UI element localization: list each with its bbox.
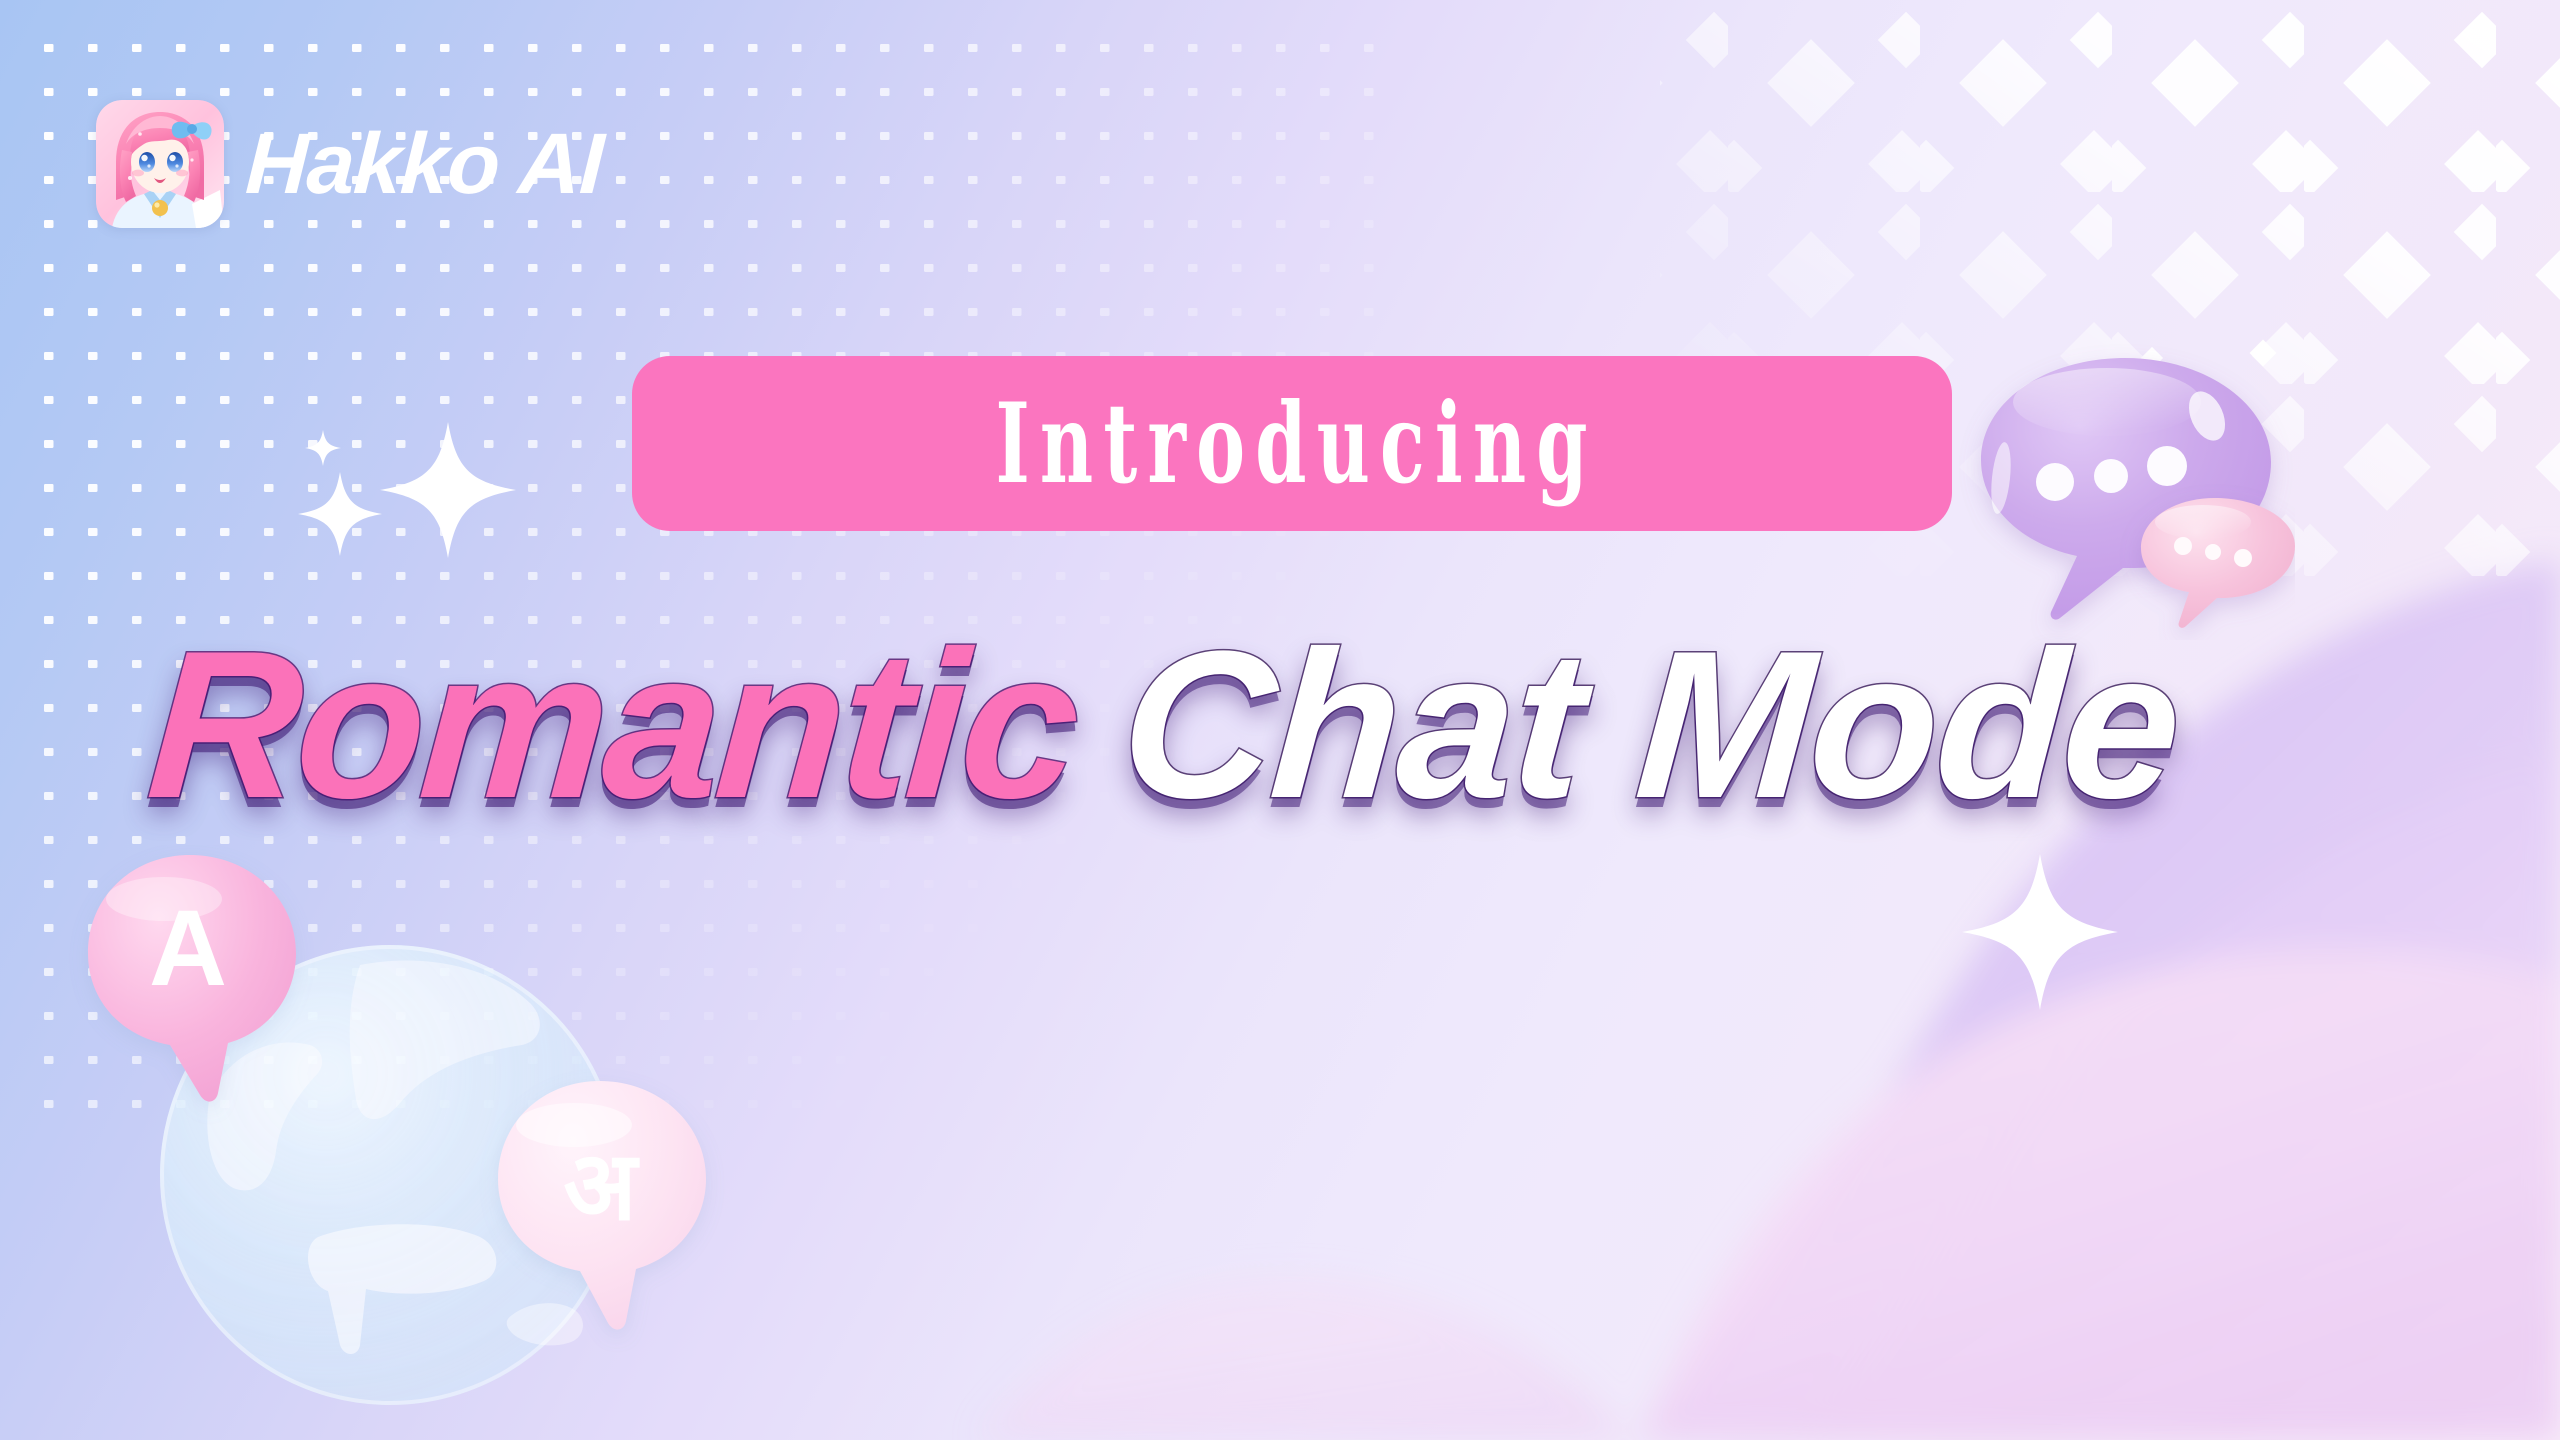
translation-globe-group: A अ <box>60 845 740 1440</box>
chat-bubbles-group <box>1955 330 2295 640</box>
introducing-badge-label: Introducing <box>986 388 1598 499</box>
brand-avatar-icon <box>96 100 224 228</box>
sparkle-large-icon <box>380 416 516 564</box>
sparkle-small-icon <box>305 430 341 466</box>
brand-logo[interactable]: Hakko AI <box>96 100 603 228</box>
chat-bubble-3d-pink <box>2141 498 2295 628</box>
pin-latin-letter: A <box>149 887 227 1008</box>
headline-highlight-word: Romantic <box>143 620 1082 830</box>
sparkle-medium-icon <box>298 468 382 560</box>
brand-name: Hakko AI <box>244 121 605 207</box>
introducing-badge: Introducing <box>632 356 1952 531</box>
promo-banner: Hakko AI Introducing Romantic Chat Mode <box>0 0 2560 1440</box>
sparkle-headline-icon <box>1962 848 2118 1016</box>
headline-rest-words: Chat Mode <box>1115 620 2185 830</box>
page-title: Romantic Chat Mode <box>150 620 2480 830</box>
pin-devanagari-letter: अ <box>563 1130 640 1242</box>
